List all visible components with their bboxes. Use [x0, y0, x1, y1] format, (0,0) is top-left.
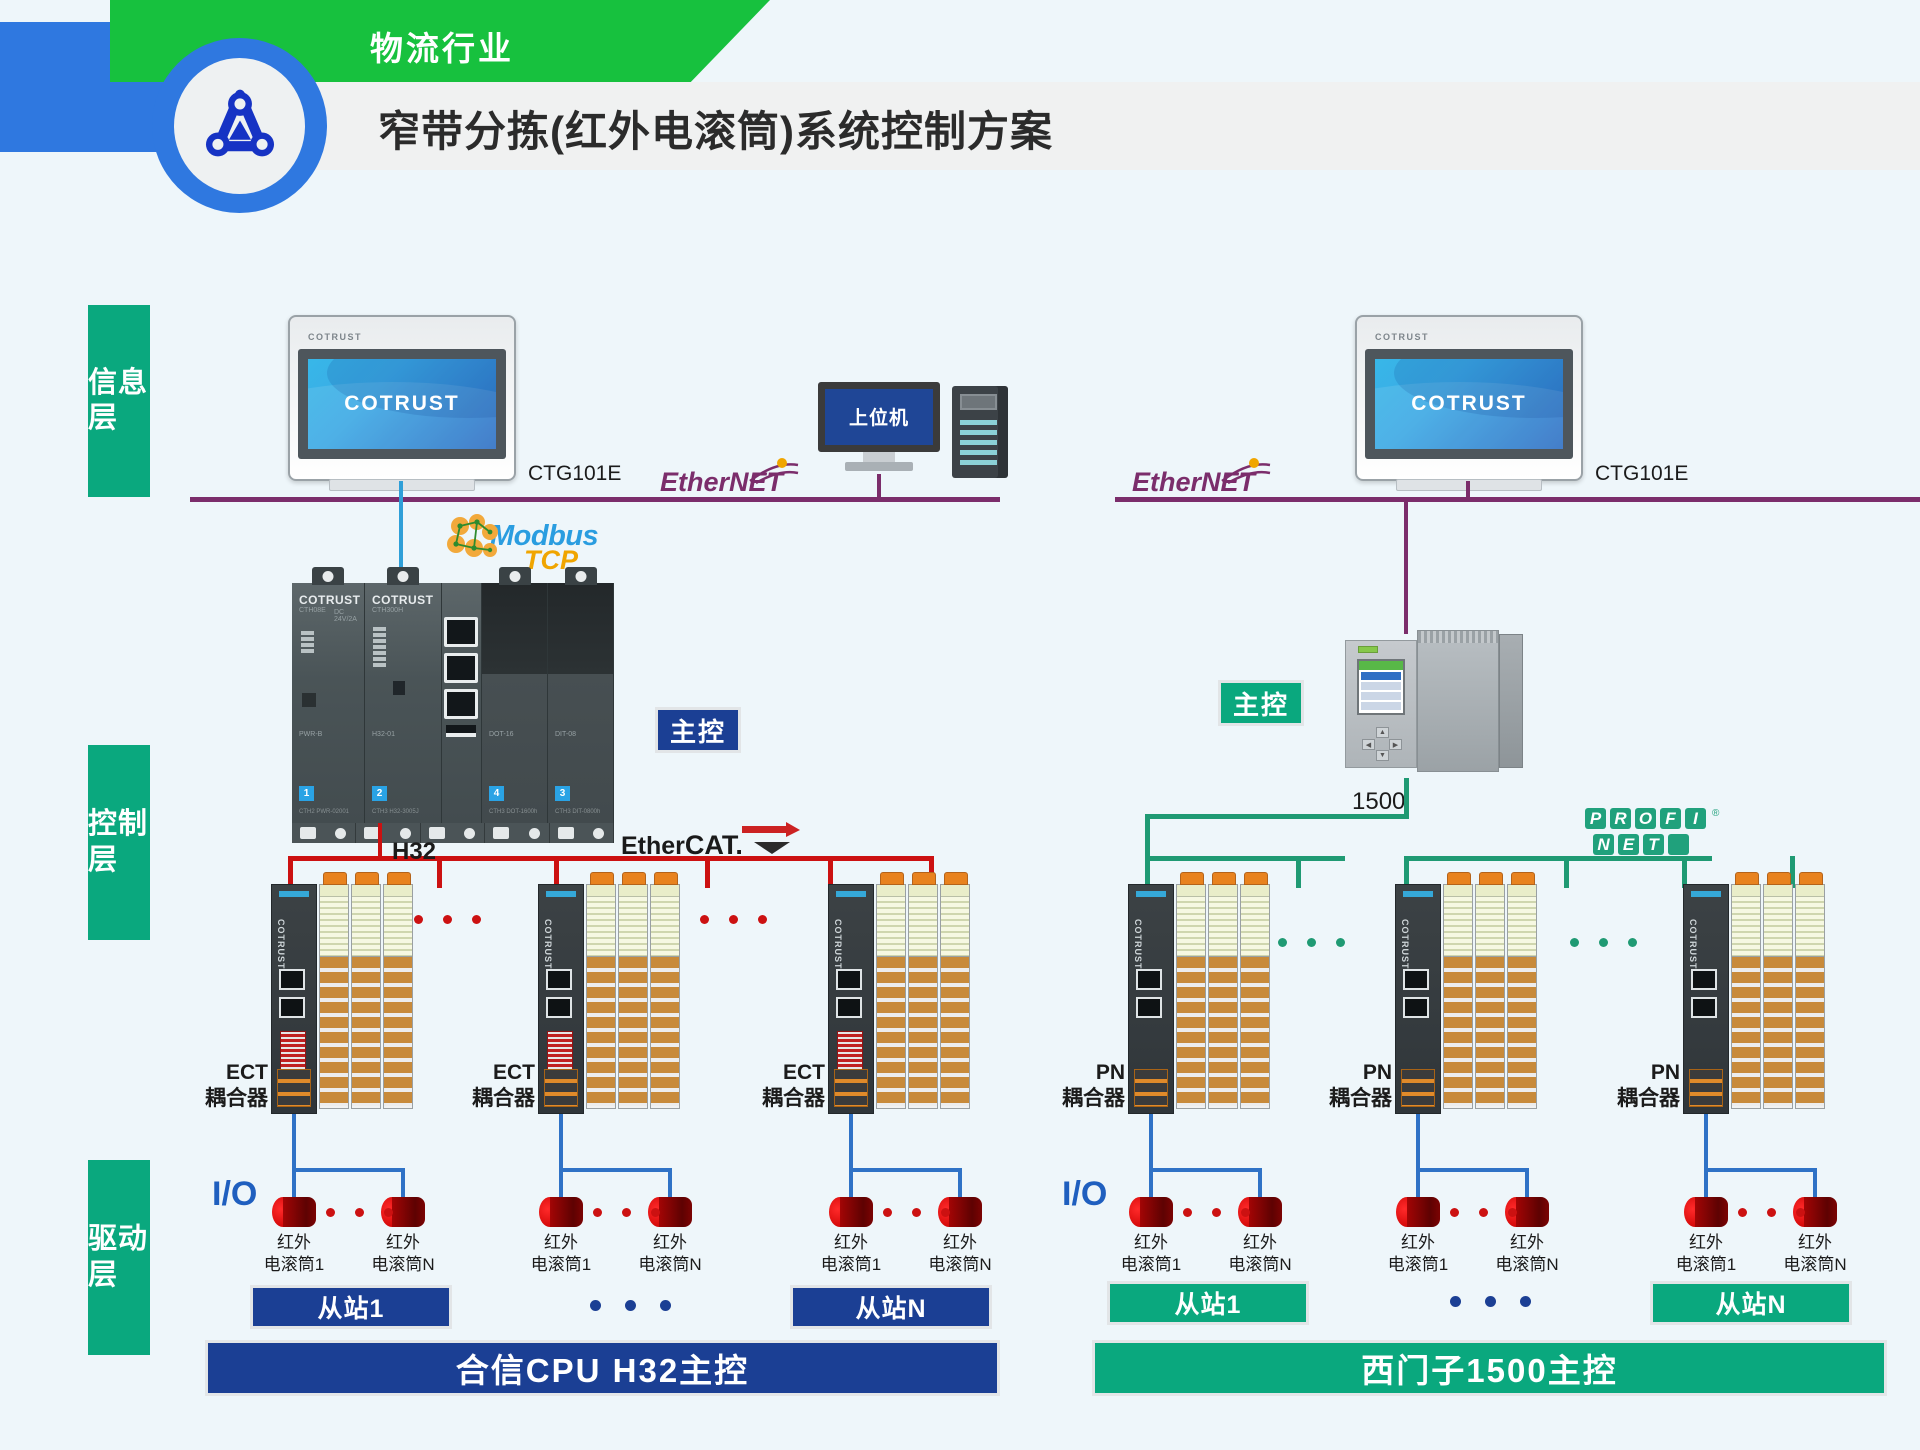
io-module[interactable] — [586, 884, 616, 1109]
dot — [1738, 1208, 1747, 1217]
module-part-number: CTH3 DIT-0800h — [555, 809, 600, 815]
profinet-ellipsis-1 — [1278, 938, 1345, 947]
rj45-ethercat-out[interactable] — [279, 997, 305, 1018]
rj45-ethercat-out[interactable] — [546, 997, 572, 1018]
roller-label-s1-first: 红外 电滚筒1 — [239, 1232, 349, 1276]
io-leg-rmid-b — [1525, 1168, 1529, 1200]
io-module[interactable] — [1240, 884, 1270, 1109]
dot — [1796, 1208, 1805, 1217]
coupler-topbar — [1691, 891, 1721, 897]
layer-tag-information: 信息层 — [88, 305, 150, 497]
rj45-port-profinet1[interactable] — [444, 617, 478, 647]
io-connector — [1767, 872, 1791, 885]
hmi-model-label-left: CTG101E — [528, 462, 621, 486]
dot — [593, 1208, 602, 1217]
roller-label-r1-last: 红外 电滚筒N — [1205, 1232, 1315, 1276]
module-part-number: CTH3 DOT-1600h — [489, 809, 537, 815]
roller-label-line2: 电滚筒N — [928, 1255, 991, 1274]
station-badge-right-1: 从站1 — [1107, 1281, 1309, 1325]
power-terminal[interactable] — [1134, 1069, 1168, 1107]
cpu-led-group — [373, 627, 386, 667]
host-pc-neck — [863, 452, 895, 462]
coupler-topbar — [546, 891, 576, 897]
ect-coupler-label-3: ECT 耦合器 — [733, 1060, 825, 1113]
dot — [1307, 938, 1316, 947]
led — [373, 633, 386, 637]
dot — [729, 915, 738, 924]
io-drop-line-sn — [849, 1114, 853, 1170]
io-module[interactable] — [1208, 884, 1238, 1109]
module-part-number: CTH2 PWR-02001 — [299, 809, 349, 815]
io-connector — [1244, 872, 1268, 885]
host-pc-monitor[interactable]: 上位机 — [818, 382, 940, 474]
module-slot-number: 3 — [555, 786, 570, 801]
dot — [625, 1300, 636, 1311]
coupler-name: 耦合器 — [762, 1087, 825, 1110]
led — [373, 651, 386, 655]
ethercat-trunk-2 — [554, 856, 934, 861]
module-mid-label: H32-01 — [372, 731, 395, 738]
roller-label-line1: 红外 — [834, 1233, 868, 1252]
roller-label-line1: 红外 — [1689, 1233, 1723, 1252]
roller-ellipsis-rmid — [1450, 1208, 1517, 1217]
io-connector — [1447, 872, 1471, 885]
roller-rmid-first — [1396, 1197, 1440, 1227]
key-up: ▲ — [1376, 727, 1389, 738]
roller-body — [1804, 1197, 1837, 1227]
plc-module-dot16[interactable]: DOT-16 4 CTH3 DOT-1600h — [482, 583, 548, 823]
coupler-type: ECT — [783, 1061, 825, 1084]
dot — [1212, 1208, 1221, 1217]
ethercat-arrow-icon — [740, 822, 802, 856]
roller-label-line2: 电滚筒N — [1783, 1255, 1846, 1274]
plc-module-cpu-h32[interactable]: COTRUST CTH300H H32-01 2 CTH3 H32-3005J — [365, 583, 442, 823]
coupler-type: ECT — [493, 1061, 535, 1084]
module-mid-label: DOT-16 — [489, 731, 514, 738]
roller-smid-first — [539, 1197, 583, 1227]
plc-status-led — [1358, 646, 1378, 653]
roller-label-line1: 红外 — [544, 1233, 578, 1252]
coupler-name: 耦合器 — [205, 1087, 268, 1110]
dot — [1450, 1208, 1459, 1217]
ect-coupler-label-1: ECT 耦合器 — [176, 1060, 268, 1113]
module-slot-number: 4 — [489, 786, 504, 801]
rack-base-cell — [550, 823, 614, 843]
layer-tag-drive: 驱动层 — [88, 1160, 150, 1355]
pn-coupler-label-2: PN 耦合器 — [1300, 1060, 1392, 1113]
roller-body — [1140, 1197, 1173, 1227]
roller-body — [392, 1197, 425, 1227]
roller-label-line2: 电滚筒1 — [264, 1255, 324, 1274]
roller-label-line1: 红外 — [653, 1233, 687, 1252]
pn-coupler-label-3: PN 耦合器 — [1588, 1060, 1680, 1113]
profinet-letter — [1668, 834, 1689, 855]
dot — [384, 1208, 393, 1217]
dot — [941, 1208, 950, 1217]
profinet-letter: T — [1643, 834, 1664, 855]
dot — [1570, 938, 1579, 947]
io-module[interactable] — [650, 884, 680, 1109]
io-leg-rmid-a — [1416, 1168, 1420, 1200]
io-leg-r1-a — [1149, 1168, 1153, 1200]
rack-base-cell — [485, 823, 549, 843]
led — [301, 643, 314, 647]
coupler-type: PN — [1096, 1061, 1125, 1084]
io-label-left: I/O — [212, 1175, 257, 1214]
coupler-type: PN — [1363, 1061, 1392, 1084]
io-leg-sn-a — [849, 1168, 853, 1200]
roller-label-line2: 电滚筒1 — [1388, 1255, 1448, 1274]
io-module[interactable] — [1475, 884, 1505, 1109]
io-drop-line-rn — [1704, 1114, 1708, 1170]
dot — [1520, 1296, 1531, 1307]
power-terminal[interactable] — [834, 1069, 868, 1107]
rj45-profinet-p2[interactable] — [1136, 997, 1162, 1018]
power-terminal[interactable] — [1689, 1069, 1723, 1107]
cpu-mode-switch[interactable] — [393, 681, 405, 695]
io-connector — [1735, 872, 1759, 885]
profinet-letter: O — [1635, 808, 1656, 829]
led — [301, 649, 314, 653]
page-title: 窄带分拣(红外电滚筒)系统控制方案 — [378, 98, 1053, 159]
rj45-port-profinet2[interactable] — [444, 653, 478, 683]
coupler-head: COTRUST — [1128, 884, 1174, 1114]
led — [301, 637, 314, 641]
io-connector — [944, 872, 968, 885]
dot — [1278, 938, 1287, 947]
led — [373, 627, 386, 631]
plc-keypad[interactable]: ▲ ◀ ▶ ▼ — [1362, 727, 1402, 761]
io-leg-rn-a — [1704, 1168, 1708, 1200]
dot — [651, 1208, 660, 1217]
module-switch[interactable] — [302, 693, 316, 707]
profinet-row-top: P R O F I ® — [1585, 808, 1719, 829]
coupler-name: 耦合器 — [1329, 1087, 1392, 1110]
io-module[interactable] — [876, 884, 906, 1109]
io-leg-r1-b — [1258, 1168, 1262, 1200]
coupler-topbar — [279, 891, 309, 897]
profinet-trunk-right — [1404, 856, 1712, 861]
dot — [1628, 938, 1637, 947]
io-connector — [1479, 872, 1503, 885]
coupler-head: COTRUST — [538, 884, 584, 1114]
roller-body — [550, 1197, 583, 1227]
module-led-group — [301, 631, 314, 653]
io-connector — [590, 872, 614, 885]
io-connector — [1212, 872, 1236, 885]
io-branch-line-rmid — [1416, 1168, 1529, 1172]
roller-label-line1: 红外 — [943, 1233, 977, 1252]
led — [373, 645, 386, 649]
dot — [1485, 1296, 1496, 1307]
pn-coupler-station-mid[interactable]: COTRUST — [1395, 884, 1537, 1114]
io-module[interactable] — [1176, 884, 1206, 1109]
io-module[interactable] — [383, 884, 413, 1109]
io-module[interactable] — [1795, 884, 1825, 1109]
plc-rack-base — [292, 823, 614, 843]
roller-rn-first — [1684, 1197, 1728, 1227]
profinet-letter: R — [1610, 808, 1631, 829]
io-connector — [1180, 872, 1204, 885]
plc-module-power[interactable]: COTRUST CTH08E DC 24V/2A PWR-B 1 CTH2 PW… — [292, 583, 365, 823]
key-left: ◀ — [1362, 739, 1375, 750]
h32-bus-label: H32 — [392, 838, 436, 866]
dot — [1241, 1208, 1250, 1217]
roller-label-s1-last: 红外 电滚筒N — [348, 1232, 458, 1276]
io-leg-s1-b — [401, 1168, 405, 1200]
roller-body — [283, 1197, 316, 1227]
layer-tag-control: 控制层 — [88, 745, 150, 940]
roller-body — [949, 1197, 982, 1227]
power-terminal[interactable] — [1401, 1069, 1435, 1107]
sd-card-slot[interactable] — [446, 725, 476, 737]
pc-tower-slot — [960, 420, 997, 425]
io-drop-line-smid — [559, 1114, 563, 1170]
io-module[interactable] — [319, 884, 349, 1109]
led — [373, 663, 386, 667]
io-module[interactable] — [908, 884, 938, 1109]
io-drop-line-r1 — [1149, 1114, 1153, 1170]
plc-vent-grille — [1418, 631, 1498, 643]
hmi-body-right: COTRUST COTRUST — [1355, 315, 1583, 481]
plc-module-ethernet-ports[interactable] — [442, 583, 482, 823]
coupler-head: COTRUST — [828, 884, 874, 1114]
io-module[interactable] — [1443, 884, 1473, 1109]
dot — [1336, 938, 1345, 947]
plc-display-row — [1361, 682, 1401, 690]
roller-label-line1: 红外 — [277, 1233, 311, 1252]
ethercat-node-drop-1b — [437, 856, 442, 888]
roller-label-line1: 红外 — [1798, 1233, 1832, 1252]
io-module[interactable] — [618, 884, 648, 1109]
logo-circle — [152, 38, 327, 213]
io-connector — [622, 872, 646, 885]
dot — [700, 915, 709, 924]
rj45-profinet-p1[interactable] — [1691, 969, 1717, 990]
pn-coupler-label-1: PN 耦合器 — [1033, 1060, 1125, 1113]
profinet-logo: P R O F I ® N E T — [1585, 808, 1719, 855]
io-branch-line-smid — [559, 1168, 672, 1172]
io-leg-sn-b — [958, 1168, 962, 1200]
module-part-number: CTH3 H32-3005J — [372, 809, 419, 815]
rj45-ethercat-in[interactable] — [279, 969, 305, 990]
io-connector — [355, 872, 379, 885]
ethernet-arc-icon-right — [1218, 455, 1274, 485]
dot — [1450, 1296, 1461, 1307]
profinet-registered-mark: ® — [1712, 808, 1719, 829]
roller-label-line1: 红外 — [1510, 1233, 1544, 1252]
rj45-profinet-p2[interactable] — [1691, 997, 1717, 1018]
hmi-panel-left[interactable]: COTRUST COTRUST — [288, 315, 516, 481]
dot — [443, 915, 452, 924]
roller-body — [659, 1197, 692, 1227]
io-leg-smid-a — [559, 1168, 563, 1200]
profinet-node-drop-1b — [1296, 856, 1301, 888]
roller-label-sn-last: 红外 电滚筒N — [905, 1232, 1015, 1276]
pc-to-bus-line — [877, 474, 881, 500]
coupler-topbar — [836, 891, 866, 897]
rj45-ethercat-in[interactable] — [836, 969, 862, 990]
master-badge-left: 主控 — [655, 707, 741, 753]
pc-tower-slot — [960, 440, 997, 445]
roller-body — [1516, 1197, 1549, 1227]
dot — [883, 1208, 892, 1217]
modbus-nodes-icon — [446, 514, 500, 562]
roller-label-line2: 电滚筒N — [371, 1255, 434, 1274]
coupler-type: ECT — [226, 1061, 268, 1084]
io-module[interactable] — [351, 884, 381, 1109]
rj45-ethercat-in[interactable] — [546, 969, 572, 990]
pc-tower-slot — [960, 430, 997, 435]
io-branch-line-s1 — [292, 1168, 405, 1172]
plc-display-row — [1361, 692, 1401, 700]
roller-label-rn-last: 红外 电滚筒N — [1760, 1232, 1870, 1276]
io-module[interactable] — [1763, 884, 1793, 1109]
pc-tower-bay — [960, 394, 997, 410]
roller-sn-first — [829, 1197, 873, 1227]
fidget-spinner-icon — [194, 80, 286, 172]
module-brand: COTRUST — [372, 593, 434, 607]
rj45-port-lan[interactable] — [444, 689, 478, 719]
roller-label-line2: 电滚筒1 — [821, 1255, 881, 1274]
siemens-s7-1500-plc[interactable]: ▲ ◀ ▶ ▼ — [1345, 630, 1525, 778]
plc-display[interactable] — [1357, 659, 1405, 715]
plc-module-body — [1417, 630, 1499, 772]
plc-rack-h32[interactable]: COTRUST CTH08E DC 24V/2A PWR-B 1 CTH2 PW… — [292, 583, 614, 823]
io-connector — [1799, 872, 1823, 885]
led — [301, 631, 314, 635]
pn-coupler-station-1[interactable]: COTRUST — [1128, 884, 1270, 1114]
hmi-screen-logo-right: COTRUST — [1411, 392, 1527, 416]
roller-label-rmid-first: 红外 电滚筒1 — [1363, 1232, 1473, 1276]
coupler-head: COTRUST — [1683, 884, 1729, 1114]
roller-label-smid-last: 红外 电滚筒N — [615, 1232, 725, 1276]
dot — [912, 1208, 921, 1217]
rj45-ethercat-out[interactable] — [836, 997, 862, 1018]
dot — [472, 915, 481, 924]
hmi-brand-right: COTRUST — [1365, 325, 1573, 349]
coupler-name: 耦合器 — [1062, 1087, 1125, 1110]
roller-label-line1: 红外 — [386, 1233, 420, 1252]
module-clip — [565, 567, 597, 585]
pc-tower-slot — [960, 460, 997, 465]
roller-label-line2: 电滚筒1 — [1121, 1255, 1181, 1274]
rj45-profinet-p1[interactable] — [1403, 969, 1429, 990]
ethernet-arc-icon-left — [746, 455, 802, 485]
bottom-banner-left: 合信CPU H32主控 — [205, 1340, 1000, 1396]
coupler-topbar — [1403, 891, 1433, 897]
rj45-profinet-p1[interactable] — [1136, 969, 1162, 990]
profinet-letter: P — [1585, 808, 1606, 829]
coupler-head: COTRUST — [1395, 884, 1441, 1114]
io-connector — [387, 872, 411, 885]
header-industry-tag: 物流行业 — [370, 22, 514, 70]
host-pc-tower — [952, 386, 1008, 478]
plc-display-row — [1361, 702, 1401, 710]
roller-body — [1407, 1197, 1440, 1227]
key-down: ▼ — [1376, 750, 1389, 761]
roller-label-rmid-last: 红外 电滚筒N — [1472, 1232, 1582, 1276]
rj45-profinet-p2[interactable] — [1403, 997, 1429, 1018]
module-clip — [499, 567, 531, 585]
module-extra: DC 24V/2A — [334, 609, 364, 623]
hmi-brand-left: COTRUST — [298, 325, 506, 349]
roller-label-line1: 红外 — [1243, 1233, 1277, 1252]
coupler-name: 耦合器 — [472, 1087, 535, 1110]
hmi-screen-logo-left: COTRUST — [344, 392, 460, 416]
io-module[interactable] — [1731, 884, 1761, 1109]
power-terminal[interactable] — [277, 1069, 311, 1107]
profinet-letter: I — [1685, 808, 1706, 829]
io-module[interactable] — [1507, 884, 1537, 1109]
pc-tower-slot — [960, 450, 997, 455]
bus-branch-right — [1404, 497, 1470, 501]
ect-coupler-station-mid[interactable]: COTRUST — [538, 884, 680, 1114]
roller-body — [1695, 1197, 1728, 1227]
dot — [758, 915, 767, 924]
led — [373, 639, 386, 643]
hmi-screen-left: COTRUST — [308, 359, 496, 449]
diagram-canvas: 物流行业 窄带分拣(红外电滚筒)系统控制方案 信息层 控制层 驱动层 COTRU… — [0, 0, 1920, 1450]
roller-ellipsis-sn — [883, 1208, 950, 1217]
roller-label-sn-first: 红外 电滚筒1 — [796, 1232, 906, 1276]
roller-label-line1: 红外 — [1401, 1233, 1435, 1252]
ect-coupler-station-1[interactable]: COTRUST — [271, 884, 413, 1114]
dot — [622, 1208, 631, 1217]
module-sub: CTH300H — [372, 607, 403, 614]
roller-label-line2: 电滚筒N — [1495, 1255, 1558, 1274]
ethercat-ellipsis-2 — [700, 915, 767, 924]
dot — [1599, 938, 1608, 947]
io-branch-line-sn — [849, 1168, 962, 1172]
io-connector — [323, 872, 347, 885]
module-brand: COTRUST — [299, 593, 361, 607]
profinet-ellipsis-2 — [1570, 938, 1637, 947]
module-slot-number: 1 — [299, 786, 314, 801]
coupler-brand: COTRUST — [1688, 919, 1698, 970]
roller-label-line2: 电滚筒N — [638, 1255, 701, 1274]
power-terminal[interactable] — [544, 1069, 578, 1107]
profinet-row-bottom: N E T — [1593, 834, 1719, 855]
coupler-head: COTRUST — [271, 884, 317, 1114]
station-ellipsis-left — [590, 1300, 671, 1311]
module-clip — [387, 567, 419, 585]
plc-module-dit08[interactable]: DIT-08 3 CTH3 DIT-0800h — [548, 583, 614, 823]
roller-s1-first — [272, 1197, 316, 1227]
station-badge-right-n: 从站N — [1650, 1281, 1852, 1325]
host-pc-screen: 上位机 — [818, 382, 940, 452]
pn-coupler-station-n[interactable]: COTRUST — [1683, 884, 1825, 1114]
io-leg-smid-b — [668, 1168, 672, 1200]
profinet-node-drop-2b — [1564, 856, 1569, 888]
ect-coupler-station-n[interactable]: COTRUST — [828, 884, 970, 1114]
io-leg-s1-a — [292, 1168, 296, 1200]
roller-label-r1-first: 红外 电滚筒1 — [1096, 1232, 1206, 1276]
hmi-panel-right[interactable]: COTRUST COTRUST — [1355, 315, 1583, 481]
plc-model-label: 1500 — [1352, 788, 1405, 816]
dot — [326, 1208, 335, 1217]
roller-label-smid-first: 红外 电滚筒1 — [506, 1232, 616, 1276]
plc-module-side — [1499, 634, 1523, 768]
coupler-brand: COTRUST — [276, 919, 286, 970]
profinet-riser — [1145, 814, 1150, 888]
station-badge-left-n: 从站N — [790, 1285, 992, 1329]
roller-ellipsis-rn — [1738, 1208, 1805, 1217]
bus-to-plc1500-line — [1404, 497, 1408, 634]
io-module[interactable] — [940, 884, 970, 1109]
io-branch-line-r1 — [1149, 1168, 1262, 1172]
roller-ellipsis-smid — [593, 1208, 660, 1217]
